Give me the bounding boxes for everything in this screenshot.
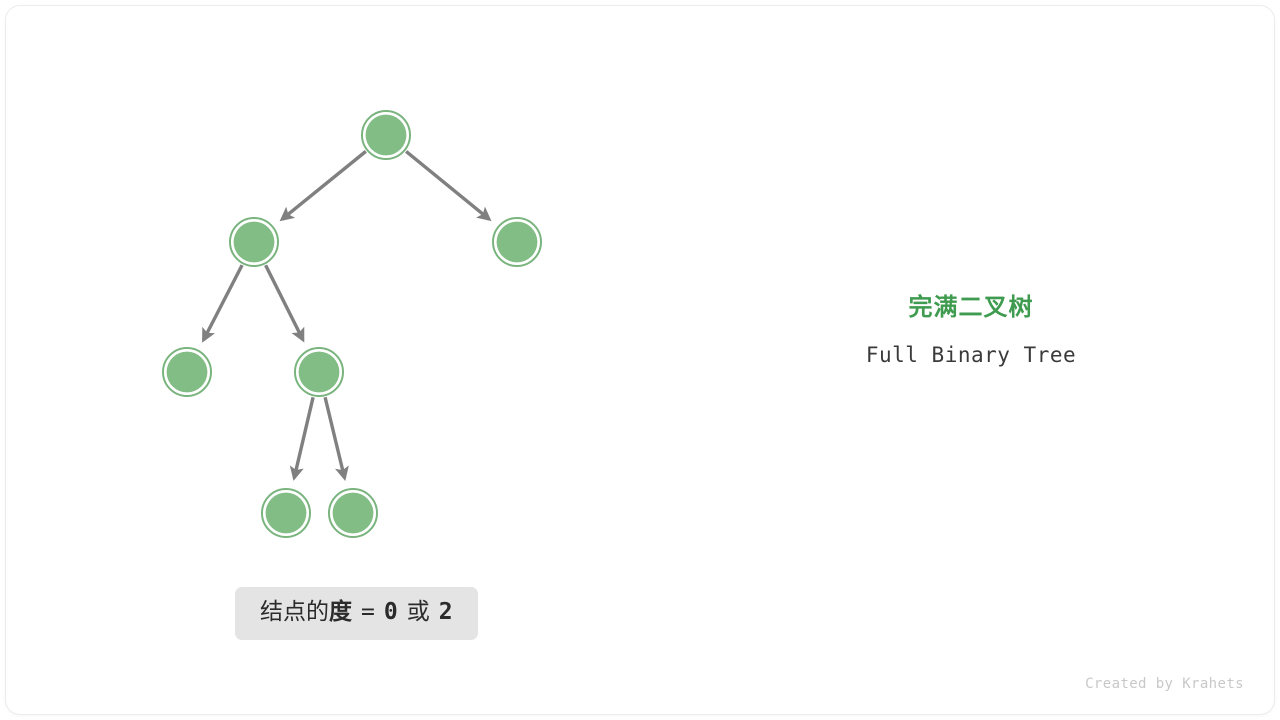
tree-edge	[266, 265, 303, 340]
tree-edge	[203, 265, 242, 340]
tree-node	[295, 348, 343, 396]
title-chinese: 完满二叉树	[766, 292, 1176, 324]
diagram-card: 完满二叉树 Full Binary Tree 结点的度=0或2 Created …	[6, 6, 1274, 714]
tree-node	[262, 489, 310, 537]
degree-label-part1: 结点的	[260, 598, 329, 624]
tree-node	[329, 489, 377, 537]
tree-node-fill	[366, 115, 407, 156]
tree-node-fill	[333, 493, 374, 534]
degree-label-part6: 2	[439, 599, 453, 625]
tree-node-fill	[299, 352, 340, 393]
tree-edge	[406, 151, 489, 219]
degree-label-part2: 度	[329, 598, 352, 624]
degree-label: 结点的度=0或2	[235, 587, 478, 640]
tree-edge	[325, 397, 344, 478]
tree-node	[230, 218, 278, 266]
tree-nodes	[163, 111, 541, 537]
tree-node-fill	[167, 352, 208, 393]
tree-node-fill	[234, 222, 275, 263]
degree-label-part3: =	[361, 599, 375, 625]
degree-label-part4: 0	[384, 599, 398, 625]
tree-edges	[203, 151, 489, 478]
tree-node	[163, 348, 211, 396]
title-english: Full Binary Tree	[766, 343, 1176, 367]
title-block: 完满二叉树 Full Binary Tree	[766, 292, 1176, 367]
degree-label-part5: 或	[407, 598, 430, 624]
tree-edge	[294, 397, 313, 478]
tree-node	[362, 111, 410, 159]
tree-node	[493, 218, 541, 266]
tree-node-fill	[266, 493, 307, 534]
footer-credit: Created by Krahets	[1085, 676, 1244, 692]
tree-edge	[282, 151, 366, 219]
tree-node-fill	[497, 222, 538, 263]
